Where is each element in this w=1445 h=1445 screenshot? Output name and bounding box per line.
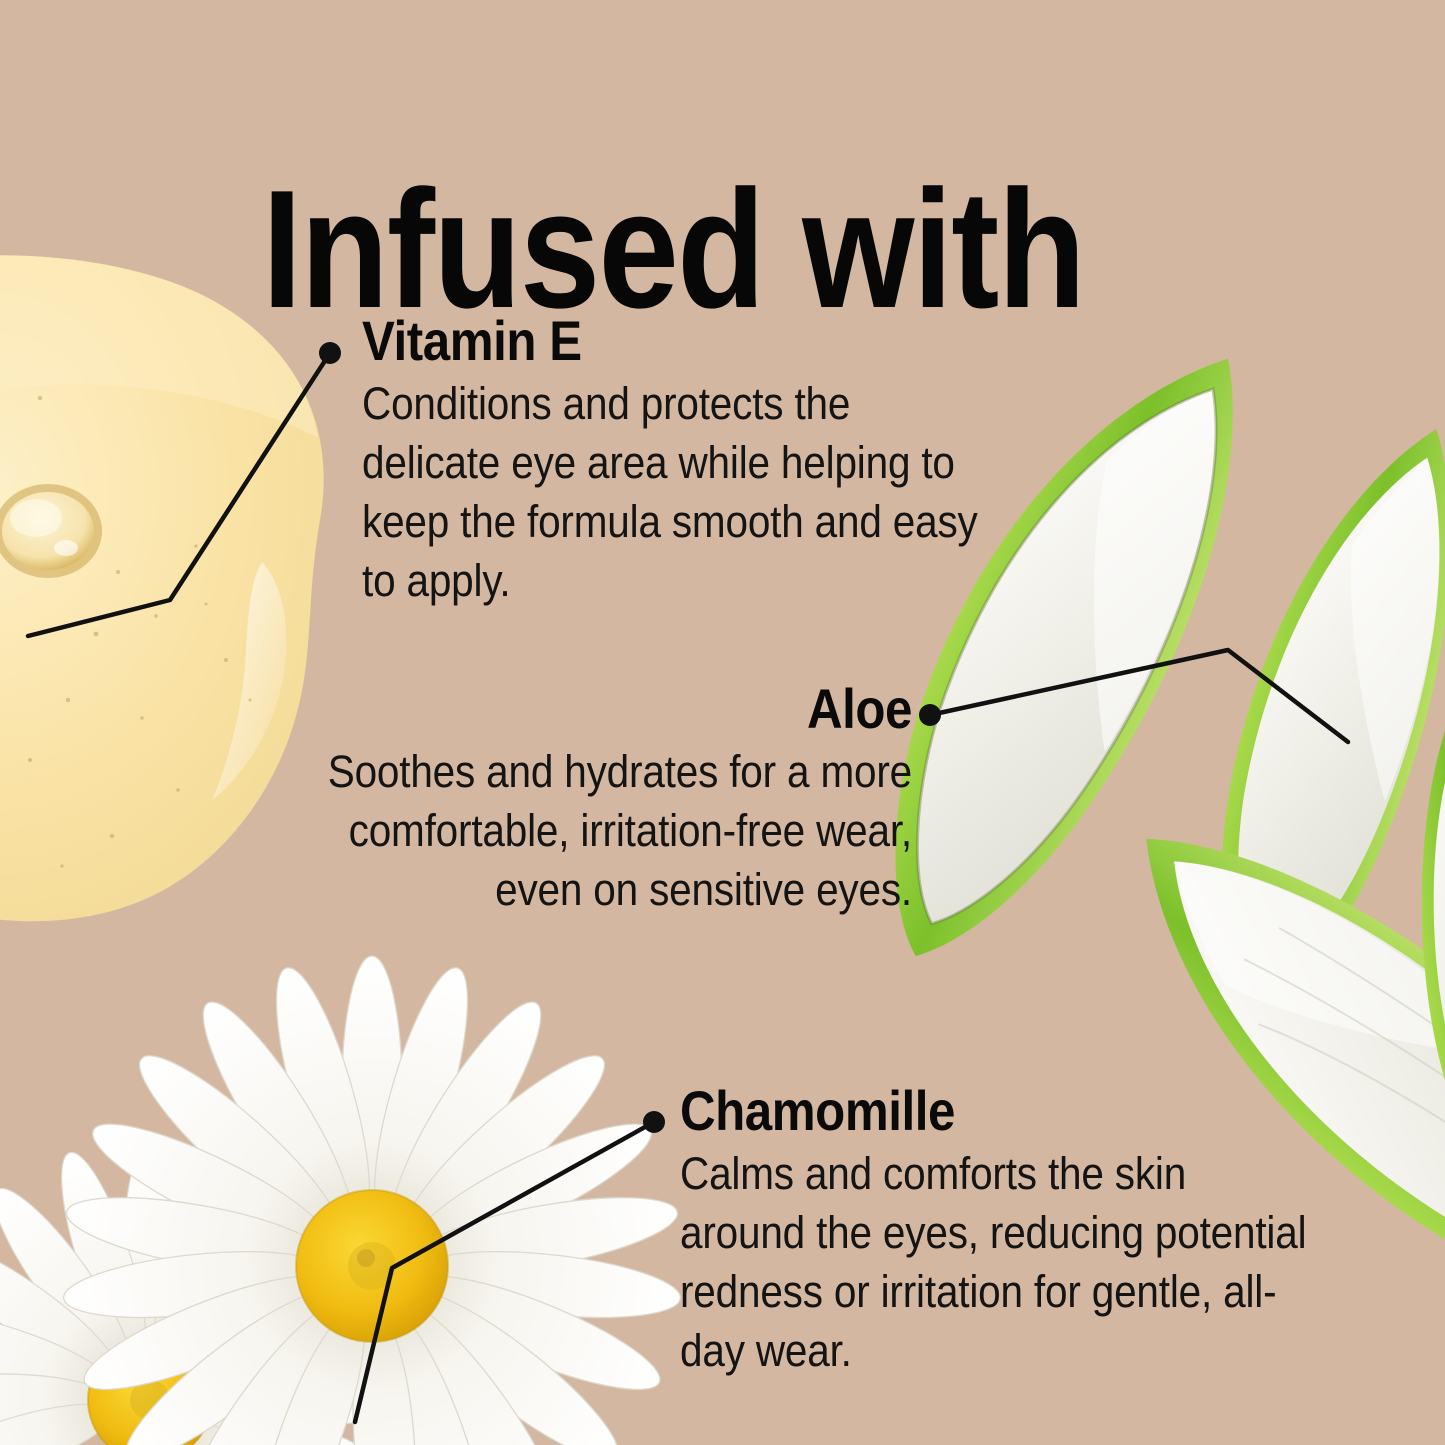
leader-dot-chamomille [643, 1111, 665, 1133]
ingredient-block-vitamin-e: Vitamin E Conditions and protects the de… [362, 312, 1062, 611]
ingredient-name-chamomille: Chamomille [680, 1082, 1296, 1139]
ingredient-description-vitamin-e: Conditions and protects the delicate eye… [362, 375, 992, 611]
ingredient-block-chamomille: Chamomille Calms and comforts the skin a… [680, 1082, 1380, 1381]
ingredient-name-vitamin-e: Vitamin E [362, 312, 978, 369]
ingredient-block-aloe: Aloe Soothes and hydrates for a more com… [200, 680, 912, 920]
leader-line-vitamin-e [28, 353, 330, 636]
ingredient-name-aloe: Aloe [285, 680, 912, 737]
page-title: Infused with [262, 165, 1084, 333]
leader-dot-aloe [919, 704, 941, 726]
ingredient-description-chamomille: Calms and comforts the skin around the e… [680, 1145, 1310, 1381]
ingredient-description-aloe: Soothes and hydrates for a more comforta… [271, 743, 912, 920]
ingredient-infographic: Infused with Vitamin E Conditions and pr… [0, 0, 1445, 1445]
leader-line-chamomille [355, 1122, 654, 1422]
leader-line-aloe [930, 650, 1348, 742]
leader-dot-vitamin-e [319, 342, 341, 364]
